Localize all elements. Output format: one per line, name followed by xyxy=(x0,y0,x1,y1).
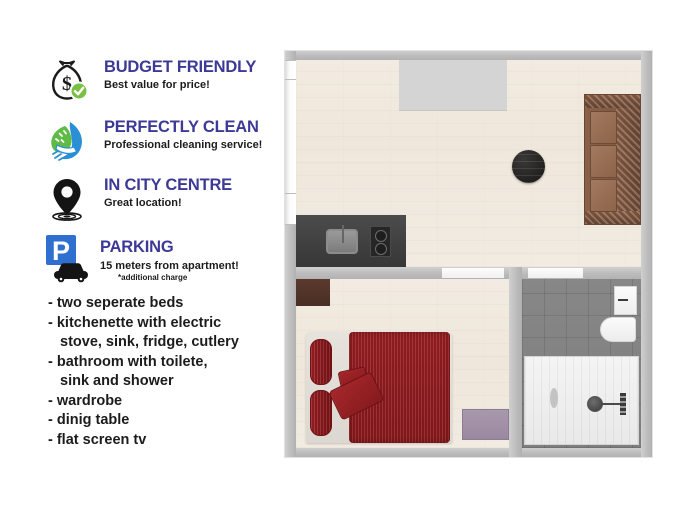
wall-right xyxy=(641,51,652,457)
feature-subtitle: Great location! xyxy=(104,196,289,210)
feature-title: PARKING xyxy=(100,238,300,256)
list-item: stove, sink, fridge, cutlery xyxy=(48,333,283,353)
window-bedroom xyxy=(285,79,296,194)
feature-subtitle: 15 meters from apartment! xyxy=(100,259,300,273)
feature-in-city-centre-text: IN CITY CENTRE Great location! xyxy=(104,176,289,210)
list-item: - bathroom with toilete, xyxy=(48,353,283,373)
shower-drain xyxy=(550,388,558,408)
list-item: - two seperate beds xyxy=(48,294,283,314)
sofa-armrest xyxy=(585,95,640,108)
svg-text:P: P xyxy=(52,236,70,266)
room-bathroom xyxy=(522,279,641,448)
parking-sign-car-icon: P xyxy=(44,234,90,280)
feature-perfectly-clean-text: PERFECTLY CLEAN Professional cleaning se… xyxy=(104,118,289,152)
room-bedroom xyxy=(296,279,509,448)
feature-parking: P PARKING 15 meters from apartment! *add… xyxy=(44,234,284,290)
list-item: - dinig table xyxy=(48,411,283,431)
room-living-room xyxy=(296,60,641,267)
kitchen-sink xyxy=(326,229,358,254)
coffee-table xyxy=(512,150,545,183)
wall-top xyxy=(285,51,652,60)
feature-title: BUDGET FRIENDLY xyxy=(104,58,289,76)
map-pin-icon xyxy=(44,176,90,222)
bed xyxy=(306,332,452,443)
list-item: - flat screen tv xyxy=(48,431,283,451)
amenities-list: - two seperate beds - kitchenette with e… xyxy=(48,294,283,450)
shower-fixture xyxy=(620,393,626,415)
wall-bathroom-divider xyxy=(509,267,522,457)
feature-title: IN CITY CENTRE xyxy=(104,176,289,194)
feature-parking-text: PARKING 15 meters from apartment! *addit… xyxy=(100,238,300,282)
feature-perfectly-clean: PERFECTLY CLEAN Professional cleaning se… xyxy=(44,118,284,174)
apartment-floor-plan xyxy=(285,51,652,457)
sofa-backrest xyxy=(616,95,640,224)
toilet xyxy=(600,317,636,342)
bed-bolster-pillow xyxy=(310,339,332,385)
wardrobe xyxy=(296,279,330,306)
feature-title: PERFECTLY CLEAN xyxy=(104,118,289,136)
feature-subtitle: Professional cleaning service! xyxy=(104,138,289,152)
living-rug xyxy=(399,60,507,111)
kitchen-counter xyxy=(296,215,406,267)
sofa xyxy=(584,94,641,225)
sofa-cushion xyxy=(590,111,617,144)
features-panel: $ BUDGET FRIENDLY Best value for price! … xyxy=(0,0,280,510)
sofa-armrest xyxy=(585,211,640,224)
cleaning-brush-icon xyxy=(44,118,90,164)
list-item: - wardrobe xyxy=(48,392,283,412)
feature-subtitle: Best value for price! xyxy=(104,78,289,92)
dresser xyxy=(462,409,509,440)
bathroom-sink xyxy=(614,286,637,315)
feature-budget-friendly: $ BUDGET FRIENDLY Best value for price! xyxy=(44,58,284,114)
feature-budget-friendly-text: BUDGET FRIENDLY Best value for price! xyxy=(104,58,289,92)
shower xyxy=(524,356,639,445)
door-opening-bedroom xyxy=(442,268,504,278)
sofa-cushion xyxy=(590,145,617,178)
stove-burner xyxy=(375,230,387,242)
stove-burner xyxy=(375,243,387,255)
kitchen-stove xyxy=(370,226,391,257)
sofa-cushion xyxy=(590,179,617,212)
door-opening-bathroom xyxy=(528,268,583,278)
wall-bottom xyxy=(285,448,652,457)
list-item: sink and shower xyxy=(48,372,283,392)
list-item: - kitchenette with electric xyxy=(48,314,283,334)
feature-in-city-centre: IN CITY CENTRE Great location! xyxy=(44,176,284,232)
money-bag-check-icon: $ xyxy=(44,58,90,104)
feature-note: *additional charge xyxy=(118,273,300,282)
bed-bolster-pillow xyxy=(310,390,332,436)
